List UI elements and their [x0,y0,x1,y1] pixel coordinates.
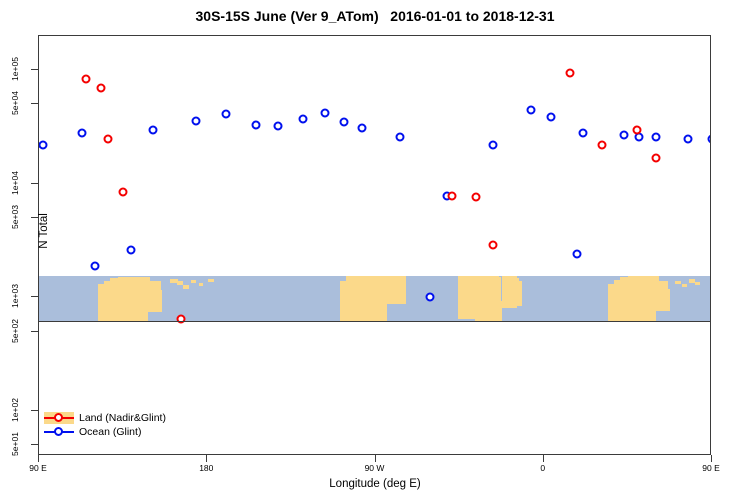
y-tick-label: 1e+03 [10,284,20,308]
y-tick-label: 1e+02 [10,398,20,422]
data-point-land[interactable] [81,74,90,83]
y-tick [31,183,38,184]
land-mass [695,282,700,285]
data-point-ocean[interactable] [38,140,47,149]
y-tick [31,444,38,445]
y-tick [31,69,38,70]
data-point-ocean[interactable] [192,116,201,125]
data-point-ocean[interactable] [321,109,330,118]
data-point-ocean[interactable] [579,129,588,138]
data-point-land[interactable] [448,192,457,201]
x-tick-label: 180 [199,463,213,473]
land-mass [144,290,163,313]
data-point-ocean[interactable] [683,134,692,143]
data-point-land[interactable] [472,193,481,202]
land-mass [475,301,502,321]
legend-label-ocean: Ocean (Glint) [79,426,141,438]
plot-area [38,35,711,455]
data-point-land[interactable] [104,134,113,143]
chart-root: 30S-15S June (Ver 9_ATom) 2016-01-01 to … [0,0,750,500]
data-point-ocean[interactable] [620,130,629,139]
data-point-land[interactable] [597,140,606,149]
data-point-ocean[interactable] [339,117,348,126]
land-mass [682,284,687,287]
x-axis-title: Longitude (deg E) [0,478,750,490]
y-tick [31,296,38,297]
x-tick [206,455,207,462]
y-tick [31,217,38,218]
legend: Land (Nadir&Glint) Ocean (Glint) [44,411,166,439]
data-point-ocean[interactable] [251,120,260,129]
world-map-band [39,276,710,321]
legend-marker-land-icon [44,412,74,424]
y-tick-label: 5e+04 [10,91,20,115]
y-axis-title: N Total [38,171,50,291]
x-tick-label: 90 E [702,463,720,473]
data-point-ocean[interactable] [358,123,367,132]
data-point-land[interactable] [565,68,574,77]
land-mass [199,283,204,286]
land-mass [652,289,669,312]
land-mass [675,281,681,285]
data-point-ocean[interactable] [526,105,535,114]
data-point-ocean[interactable] [298,115,307,124]
y-tick-label: 5e+01 [10,432,20,456]
data-point-ocean[interactable] [547,112,556,121]
data-point-ocean[interactable] [221,110,230,119]
y-tick-label: 5e+02 [10,319,20,343]
land-mass [515,281,522,306]
data-point-ocean[interactable] [78,129,87,138]
x-tick [375,455,376,462]
y-tick-label: 1e+05 [10,57,20,81]
legend-item-land[interactable]: Land (Nadir&Glint) [44,411,166,425]
data-point-land[interactable] [489,240,498,249]
data-point-ocean[interactable] [708,134,712,143]
data-point-ocean[interactable] [91,261,100,270]
land-mass [354,303,386,321]
y-tick [31,103,38,104]
x-tick-label: 90 E [29,463,47,473]
data-point-ocean[interactable] [573,250,582,259]
data-point-ocean[interactable] [425,293,434,302]
y-tick [31,410,38,411]
data-point-land[interactable] [633,125,642,134]
y-tick-label: 1e+04 [10,171,20,195]
x-tick-label: 90 W [365,463,385,473]
land-mass [208,279,214,283]
data-point-land[interactable] [119,188,128,197]
data-point-ocean[interactable] [126,246,135,255]
x-tick [543,455,544,462]
data-point-land[interactable] [651,153,660,162]
data-point-ocean[interactable] [651,132,660,141]
x-tick [38,455,39,462]
chart-title: 30S-15S June (Ver 9_ATom) 2016-01-01 to … [0,8,750,24]
x-tick-label: 0 [540,463,545,473]
land-mass [375,278,405,292]
data-point-ocean[interactable] [489,140,498,149]
legend-item-ocean[interactable]: Ocean (Glint) [44,425,166,439]
land-mass [191,280,196,283]
data-point-ocean[interactable] [274,122,283,131]
panel-divider [38,321,711,322]
y-tick-label: 5e+03 [10,205,20,229]
data-point-ocean[interactable] [149,125,158,134]
legend-label-land: Land (Nadir&Glint) [79,412,166,424]
y-tick [31,331,38,332]
data-point-ocean[interactable] [395,132,404,141]
legend-marker-ocean-icon [44,426,74,438]
land-mass [689,279,696,283]
land-mass [183,285,190,289]
data-point-land[interactable] [96,83,105,92]
x-tick [711,455,712,462]
